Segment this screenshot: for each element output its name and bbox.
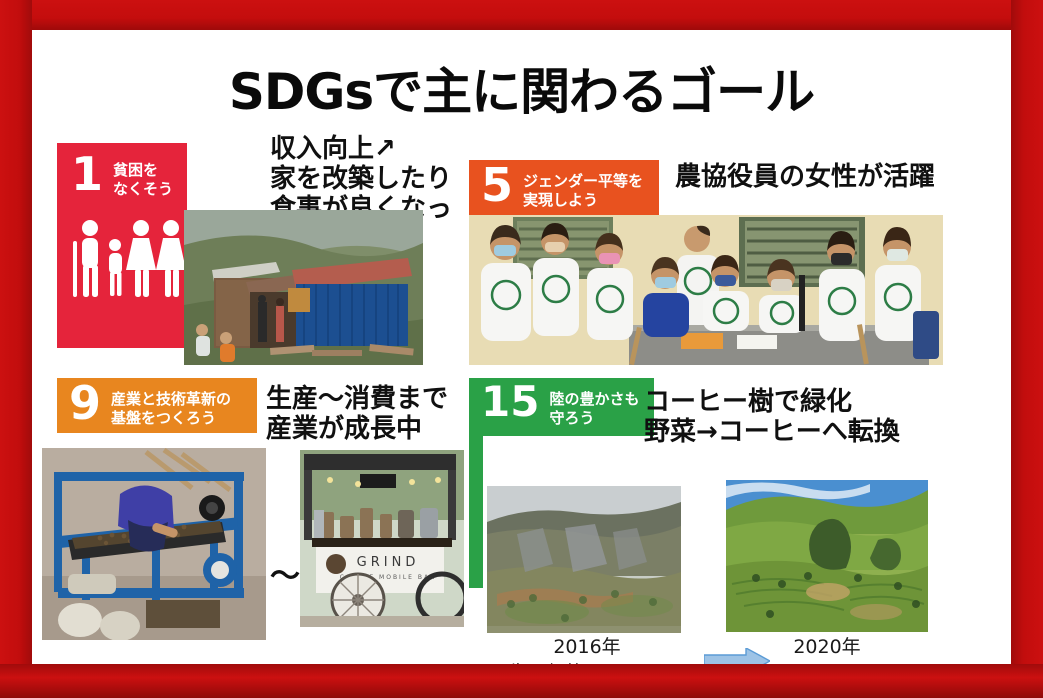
sdg-15-label: 陸の豊かさも 守ろう bbox=[549, 386, 639, 428]
slide-canvas: SDGsで主に関わるゴール 1 貧困を なくそう bbox=[32, 30, 1011, 664]
sdg-9-label: 産業と技術革新の 基盤をつくろう bbox=[111, 386, 231, 428]
annotation-goal-9: 生産〜消費まで 産業が成長中 bbox=[266, 385, 448, 445]
frame-top-border bbox=[0, 0, 1043, 30]
hillside-2020-photo bbox=[726, 480, 928, 632]
sdg-5-label: ジェンダー平等を 実現しよう bbox=[523, 168, 643, 210]
house-rebuild-photo bbox=[184, 210, 423, 365]
slide-root: SDGsで主に関わるゴール 1 貧困を なくそう bbox=[0, 0, 1043, 698]
sdg-5-number: 5 bbox=[481, 164, 513, 208]
frame-right-border bbox=[1011, 0, 1043, 698]
cooperative-women-group-photo bbox=[469, 215, 943, 365]
annotation-goal-15: コーヒー樹で緑化 野菜→コーヒーへ転換 bbox=[644, 388, 900, 448]
sdg-badge-9: 9 産業と技術革新の 基盤をつくろう bbox=[57, 378, 257, 433]
frame-bottom-border bbox=[0, 664, 1043, 698]
sdg-badge-1: 1 貧困を なくそう bbox=[57, 143, 187, 348]
sdg-15-side-bar bbox=[469, 436, 483, 588]
family-figures-icon bbox=[71, 219, 187, 310]
sdg-9-number: 9 bbox=[69, 382, 101, 426]
sdg-1-number: 1 bbox=[71, 153, 103, 199]
svg-text:GRIND: GRIND bbox=[357, 555, 420, 570]
sdg-15-number: 15 bbox=[481, 382, 539, 422]
hillside-2016-photo bbox=[487, 486, 681, 633]
tilde-separator: 〜 bbox=[270, 551, 300, 595]
sdg-badge-5: 5 ジェンダー平等を 実現しよう bbox=[469, 160, 659, 215]
page-title: SDGsで主に関わるゴール bbox=[32, 52, 1011, 124]
caption-after: 2020年 P350/KG bbox=[726, 635, 928, 664]
annotation-goal-5: 農協役員の女性が活躍 bbox=[675, 163, 935, 193]
sdg-1-header: 1 貧困を なくそう bbox=[71, 157, 173, 199]
frame-left-border bbox=[0, 0, 32, 698]
sdg-badge-15: 15 陸の豊かさも 守ろう bbox=[469, 378, 654, 436]
caption-before: 2016年 生豆価格P135/KG bbox=[487, 635, 687, 664]
sdg-1-label: 貧困を なくそう bbox=[113, 157, 173, 199]
coffee-sorting-machine-photo bbox=[42, 448, 266, 640]
grind-coffee-mobile-bar-photo: GRIND COFFEE MOBILE BAR bbox=[300, 450, 464, 627]
